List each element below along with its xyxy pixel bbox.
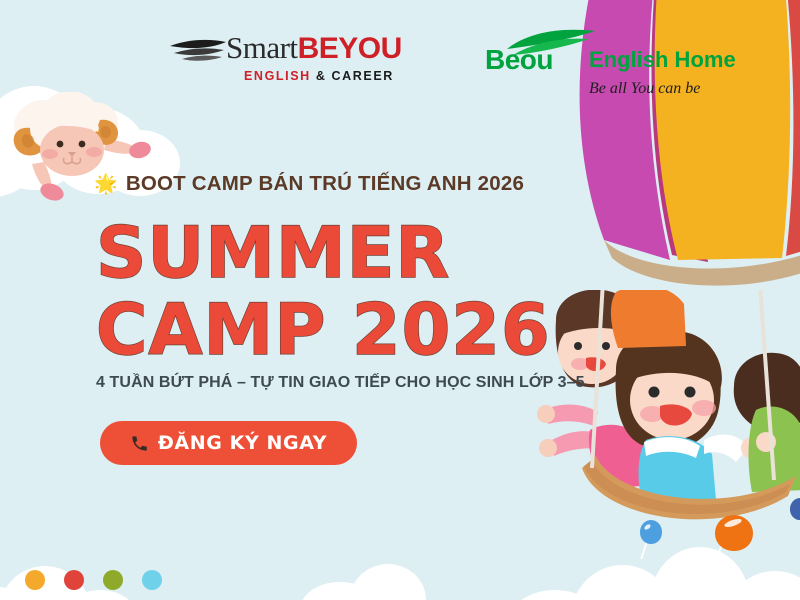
page-title-line-2: CAMP 2026 (96, 289, 551, 371)
blue-mini-balloon (640, 520, 662, 544)
child-orange-shirt (611, 290, 686, 348)
dot-orange (25, 570, 45, 590)
subtitle-text: 4 TUẦN BỨT PHÁ – TỰ TIN GIAO TIẾP CHO HỌ… (96, 374, 585, 392)
wing-icon (168, 34, 228, 68)
page-title-line-1: SUMMER (96, 212, 450, 294)
beyou-wordmark: Beou (485, 44, 553, 76)
dot-green (103, 570, 123, 590)
balloon-basket-with-children (520, 290, 800, 530)
beyou-english-home-text: English Home (589, 47, 736, 73)
beyou-english-home-logo[interactable]: Beou English Home Be all You can be (485, 36, 720, 96)
phone-icon (130, 434, 149, 453)
register-now-button[interactable]: ĐĂNG KÝ NGAY (100, 421, 357, 465)
smartbeyou-sub-english: ENGLISH (244, 69, 311, 83)
eyebrow-headline: 🌟 BOOT CAMP BÁN TRÚ TIẾNG ANH 2026 (94, 172, 524, 196)
eyebrow-text: BOOT CAMP BÁN TRÚ TIẾNG ANH 2026 (126, 172, 524, 196)
smartbeyou-logo[interactable]: SmartBEYOU ENGLISH & CAREER (168, 30, 436, 86)
beyou-tagline: Be all You can be (589, 80, 700, 98)
summer-camp-banner: SmartBEYOU ENGLISH & CAREER Beou English… (0, 0, 800, 600)
smartbeyou-sub-career: & CAREER (316, 69, 394, 83)
register-now-label: ĐĂNG KÝ NGAY (158, 432, 327, 454)
beyou-word-be: Be (485, 44, 520, 75)
smartbeyou-wordmark: SmartBEYOU (226, 30, 402, 66)
smartbeyou-word-beyou: BEYOU (298, 32, 402, 65)
dot-red (64, 570, 84, 590)
smartbeyou-word-smart: Smart (226, 30, 298, 65)
beyou-word-you: ou (520, 44, 553, 75)
smartbeyou-subline: ENGLISH & CAREER (244, 69, 394, 83)
cloud-bottom-middle (300, 562, 460, 600)
dot-blue (142, 570, 162, 590)
star-icon: 🌟 (94, 175, 118, 194)
cloud-bottom-right (500, 545, 800, 600)
color-dot-row (25, 570, 162, 590)
